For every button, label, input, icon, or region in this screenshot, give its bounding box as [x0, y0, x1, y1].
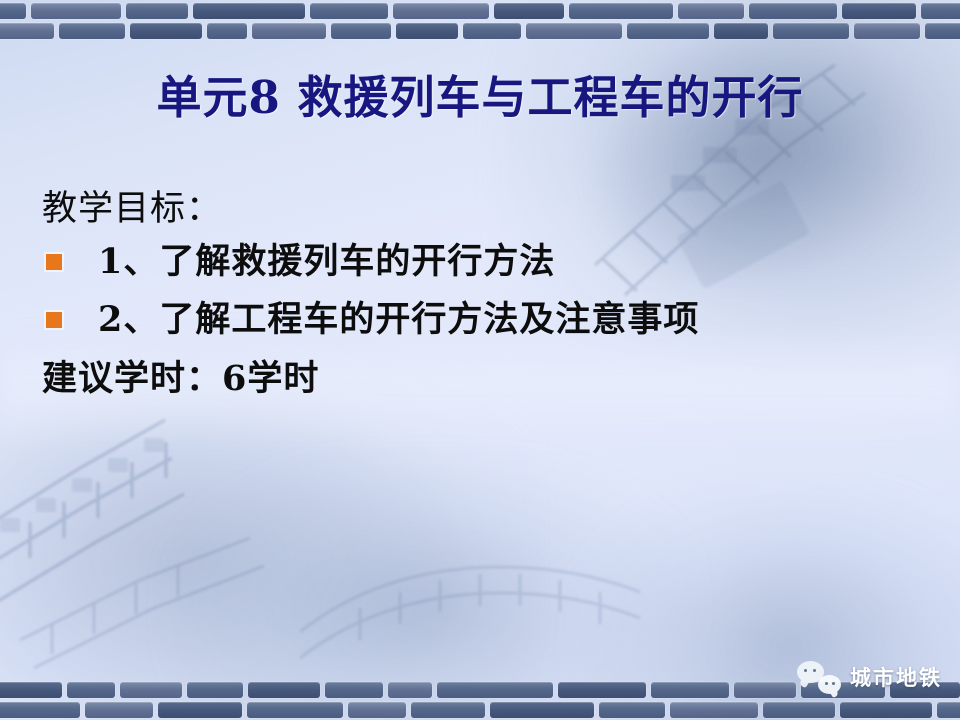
- wechat-watermark-label: 城市地铁: [850, 662, 942, 692]
- presentation-slide: 单元8 救援列车与工程车的开行 教学目标： 1、了解救援列车的开行方法 2、了解…: [0, 0, 960, 720]
- background-haze-bottom-mid: [170, 460, 690, 720]
- teaching-objectives-heading: 教学目标：: [42, 185, 922, 233]
- list-item-label: 1、了解救援列车的开行方法: [98, 240, 555, 284]
- brick-border-bottom: [0, 680, 960, 720]
- orange-square-bullet-icon: [46, 254, 62, 270]
- background-haze-bottom-right: [580, 490, 960, 720]
- great-wall-motif-bottom-left: [0, 410, 460, 690]
- orange-square-bullet-icon: [46, 312, 62, 328]
- wechat-logo-icon: [797, 660, 841, 694]
- slide-body: 教学目标： 1、了解救援列车的开行方法 2、了解工程车的开行方法及注意事项 建议…: [42, 185, 922, 405]
- list-item-label: 2、了解工程车的开行方法及注意事项: [98, 298, 699, 342]
- suggested-hours-line: 建议学时：6学时: [42, 353, 922, 405]
- stone-bridge-motif-bottom: [300, 522, 640, 692]
- wechat-watermark: 城市地铁: [797, 660, 942, 694]
- list-item: 1、了解救援列车的开行方法: [42, 233, 922, 291]
- slide-title: 单元8 救援列车与工程车的开行: [0, 70, 960, 126]
- brick-border-top: [0, 0, 960, 42]
- list-item: 2、了解工程车的开行方法及注意事项: [42, 291, 922, 349]
